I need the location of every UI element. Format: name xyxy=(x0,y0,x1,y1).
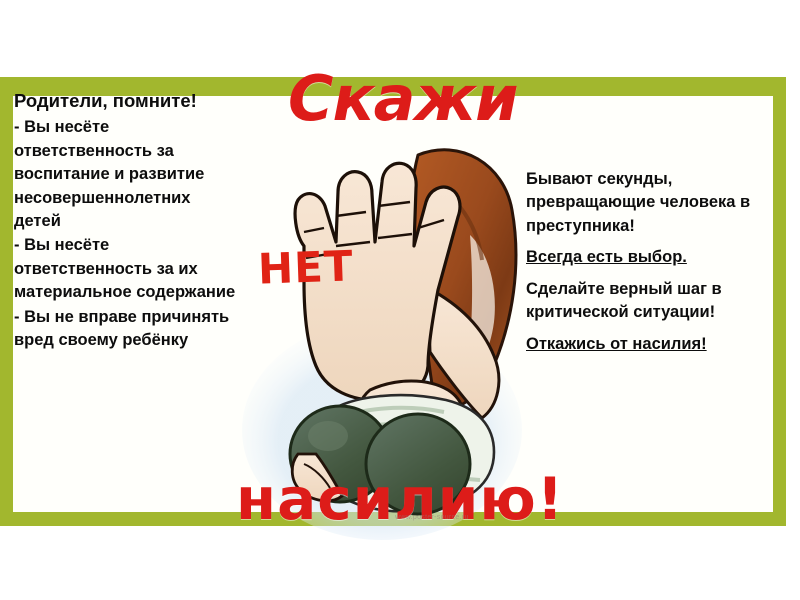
right-text-column: Бывают секунды, превращающие человека в … xyxy=(526,168,784,364)
poster-palm-text: НЕТ xyxy=(257,245,354,290)
right-column-paragraph-1: Бывают секунды, превращающие человека в … xyxy=(526,168,784,238)
left-text-column: Родители, помните! - Вы несёте ответстве… xyxy=(14,88,236,352)
left-column-paragraph-3: - Вы не вправе причинять вред своему реб… xyxy=(14,306,236,353)
right-column-paragraph-2: Всегда есть выбор. xyxy=(526,246,784,269)
poster-headline-top: Скажи xyxy=(288,68,518,130)
left-column-paragraph-2: - Вы несёте ответственность за их матери… xyxy=(14,234,236,304)
slide-canvas: Родители, помните! - Вы несёте ответстве… xyxy=(0,0,800,600)
right-column-paragraph-3: Сделайте верный шаг в критической ситуац… xyxy=(526,278,784,325)
left-column-paragraph-1: - Вы несёте ответственность за воспитани… xyxy=(14,116,236,233)
frame-left-bar xyxy=(0,77,13,526)
knee-highlight xyxy=(308,421,348,451)
left-column-heading: Родители, помните! xyxy=(14,88,236,114)
poster-watermark: www.poster-source.ru xyxy=(395,514,469,521)
right-column-paragraph-4: Откажись от насилия! xyxy=(526,333,784,356)
